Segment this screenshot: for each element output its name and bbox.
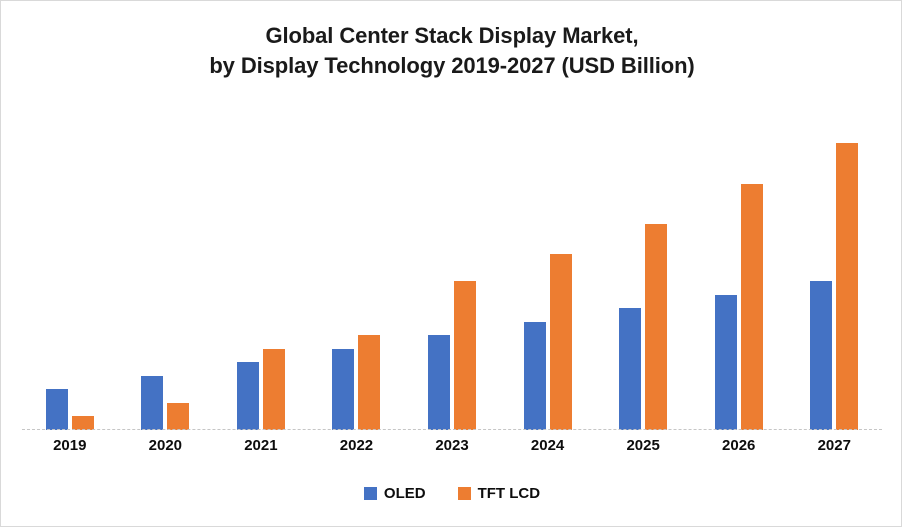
legend-swatch-icon: [458, 487, 471, 500]
legend-item-oled[interactable]: OLED: [364, 485, 426, 502]
bar-tft-lcd-2020[interactable]: [167, 403, 189, 430]
bar-oled-2023[interactable]: [428, 335, 450, 430]
bar-group-2025: [595, 119, 691, 430]
bar-oled-2027[interactable]: [810, 281, 832, 430]
bar-oled-2022[interactable]: [332, 349, 354, 430]
bar-oled-2019[interactable]: [46, 389, 68, 430]
bar-oled-2020[interactable]: [141, 376, 163, 430]
bar-group-2020: [118, 119, 214, 430]
bar-tft-lcd-2026[interactable]: [741, 184, 763, 430]
bar-group-2019: [22, 119, 118, 430]
bar-group-2023: [404, 119, 500, 430]
legend-label: TFT LCD: [478, 485, 540, 502]
bar-tft-lcd-2024[interactable]: [550, 254, 572, 430]
category-label-2020: 2020: [118, 432, 214, 462]
category-label-2022: 2022: [309, 432, 405, 462]
category-label-2019: 2019: [22, 432, 118, 462]
bar-tft-lcd-2019[interactable]: [72, 416, 94, 430]
category-label-2027: 2027: [787, 432, 883, 462]
category-label-2021: 2021: [213, 432, 309, 462]
category-axis: 201920202021202220232024202520262027: [22, 432, 882, 462]
bar-tft-lcd-2027[interactable]: [836, 143, 858, 430]
chart-container: Global Center Stack Display Market, by D…: [0, 0, 902, 527]
bar-tft-lcd-2023[interactable]: [454, 281, 476, 430]
bar-group-2022: [309, 119, 405, 430]
bar-tft-lcd-2022[interactable]: [358, 335, 380, 430]
plot-area: [22, 119, 882, 430]
bar-group-2021: [213, 119, 309, 430]
bar-groups: [22, 119, 882, 430]
bar-tft-lcd-2025[interactable]: [645, 224, 667, 430]
legend-label: OLED: [384, 485, 426, 502]
legend-item-tft-lcd[interactable]: TFT LCD: [458, 485, 540, 502]
bar-group-2027: [787, 119, 883, 430]
bar-oled-2026[interactable]: [715, 295, 737, 430]
bar-group-2024: [500, 119, 596, 430]
bar-tft-lcd-2021[interactable]: [263, 349, 285, 430]
chart-title-line-2: by Display Technology 2019-2027 (USD Bil…: [1, 51, 902, 81]
bar-oled-2025[interactable]: [619, 308, 641, 430]
category-label-2026: 2026: [691, 432, 787, 462]
bar-group-2026: [691, 119, 787, 430]
chart-title-line-1: Global Center Stack Display Market,: [1, 21, 902, 51]
axis-baseline: [22, 429, 882, 430]
category-label-2025: 2025: [595, 432, 691, 462]
legend-swatch-icon: [364, 487, 377, 500]
chart-title: Global Center Stack Display Market, by D…: [1, 21, 902, 82]
chart-legend: OLEDTFT LCD: [1, 485, 902, 502]
bar-oled-2021[interactable]: [237, 362, 259, 430]
bar-oled-2024[interactable]: [524, 322, 546, 430]
category-label-2023: 2023: [404, 432, 500, 462]
category-label-2024: 2024: [500, 432, 596, 462]
